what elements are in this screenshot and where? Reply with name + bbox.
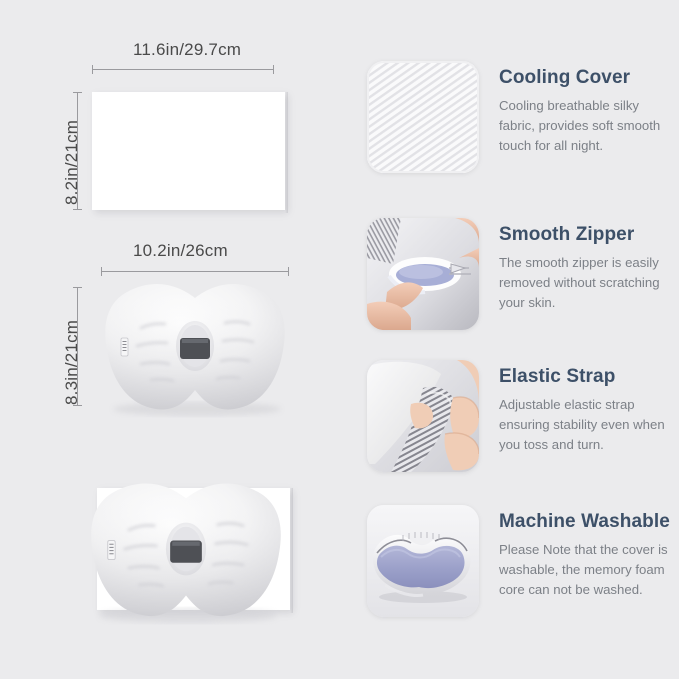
cover-width-label: 11.6in/29.7cm [133, 40, 241, 60]
feature-text-block: Machine Washable Please Note that the co… [499, 505, 674, 600]
feature-body: Cooling breathable silky fabric, provide… [499, 96, 674, 156]
product-image-cooling-cover-flat [92, 92, 285, 210]
cover-width-dimension-line [92, 65, 274, 74]
feature-body: The smooth zipper is easily removed with… [499, 253, 674, 313]
feature-title: Smooth Zipper [499, 225, 674, 246]
zipper-hand-photo-icon [367, 218, 479, 330]
infographic-canvas: 11.6in/29.7cm 8.2in/21cm 10.2in/26cm 8.3… [0, 0, 679, 679]
pillow-width-label: 10.2in/26cm [133, 241, 228, 261]
product-image-memory-foam-pillow [97, 276, 293, 416]
feature-item-machine-washable: Machine Washable Please Note that the co… [367, 505, 674, 617]
feature-item-cooling-cover: Cooling Cover Cooling breathable silky f… [367, 61, 674, 173]
elastic-strap-hand-photo-icon [367, 360, 479, 472]
feature-body: Adjustable elastic strap ensuring stabil… [499, 395, 674, 455]
feature-item-smooth-zipper: Smooth Zipper The smooth zipper is easil… [367, 218, 674, 330]
cooling-fabric-swatch-icon [367, 61, 479, 173]
feature-title: Machine Washable [499, 512, 674, 533]
feature-text-block: Smooth Zipper The smooth zipper is easil… [499, 218, 674, 313]
feature-text-block: Elastic Strap Adjustable elastic strap e… [499, 360, 674, 455]
washable-pillow-photo-icon [367, 505, 479, 617]
feature-item-elastic-strap: Elastic Strap Adjustable elastic strap e… [367, 360, 674, 472]
feature-title: Elastic Strap [499, 367, 674, 388]
pillow-height-dimension-line [73, 287, 82, 406]
feature-title: Cooling Cover [499, 68, 674, 89]
pillow-width-dimension-line [101, 267, 289, 276]
product-image-pillow-with-cover-composite [82, 475, 290, 623]
feature-body: Please Note that the cover is washable, … [499, 540, 674, 600]
cover-height-dimension-line [73, 92, 82, 210]
feature-text-block: Cooling Cover Cooling breathable silky f… [499, 61, 674, 156]
